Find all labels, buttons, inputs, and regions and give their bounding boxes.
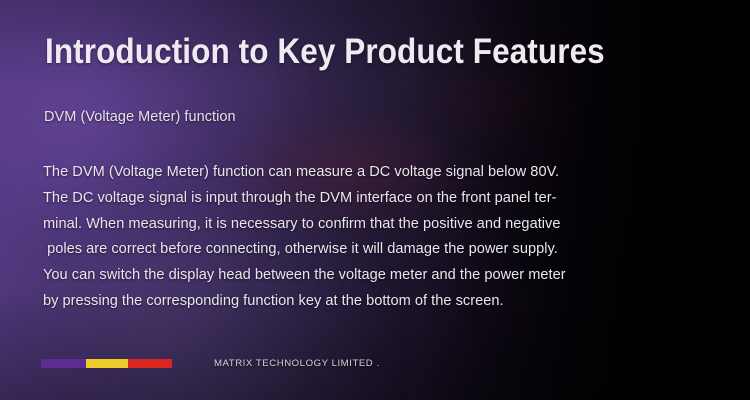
- brand-bar-segment-purple: [41, 359, 86, 368]
- brand-bar-segment-red: [128, 359, 172, 368]
- slide-content: Introduction to Key Product Features DVM…: [0, 0, 750, 400]
- body-line: The DVM (Voltage Meter) function can mea…: [43, 160, 653, 186]
- slide-footer: MATRIX TECHNOLOGY LIMITED .: [41, 358, 380, 369]
- slide-title: Introduction to Key Product Features: [45, 32, 605, 72]
- presentation-slide: Introduction to Key Product Features DVM…: [0, 0, 750, 400]
- body-line: poles are correct before connecting, oth…: [43, 237, 653, 263]
- section-subheading: DVM (Voltage Meter) function: [44, 109, 236, 125]
- company-name-label: MATRIX TECHNOLOGY LIMITED .: [214, 358, 380, 369]
- brand-bar-segment-yellow: [86, 359, 128, 368]
- body-line: You can switch the display head between …: [43, 263, 653, 289]
- body-paragraph: The DVM (Voltage Meter) function can mea…: [43, 160, 653, 315]
- body-line: minal. When measuring, it is necessary t…: [43, 212, 653, 238]
- body-line: The DC voltage signal is input through t…: [43, 186, 653, 212]
- brand-color-bar: [41, 359, 172, 368]
- body-line: by pressing the corresponding function k…: [43, 289, 653, 315]
